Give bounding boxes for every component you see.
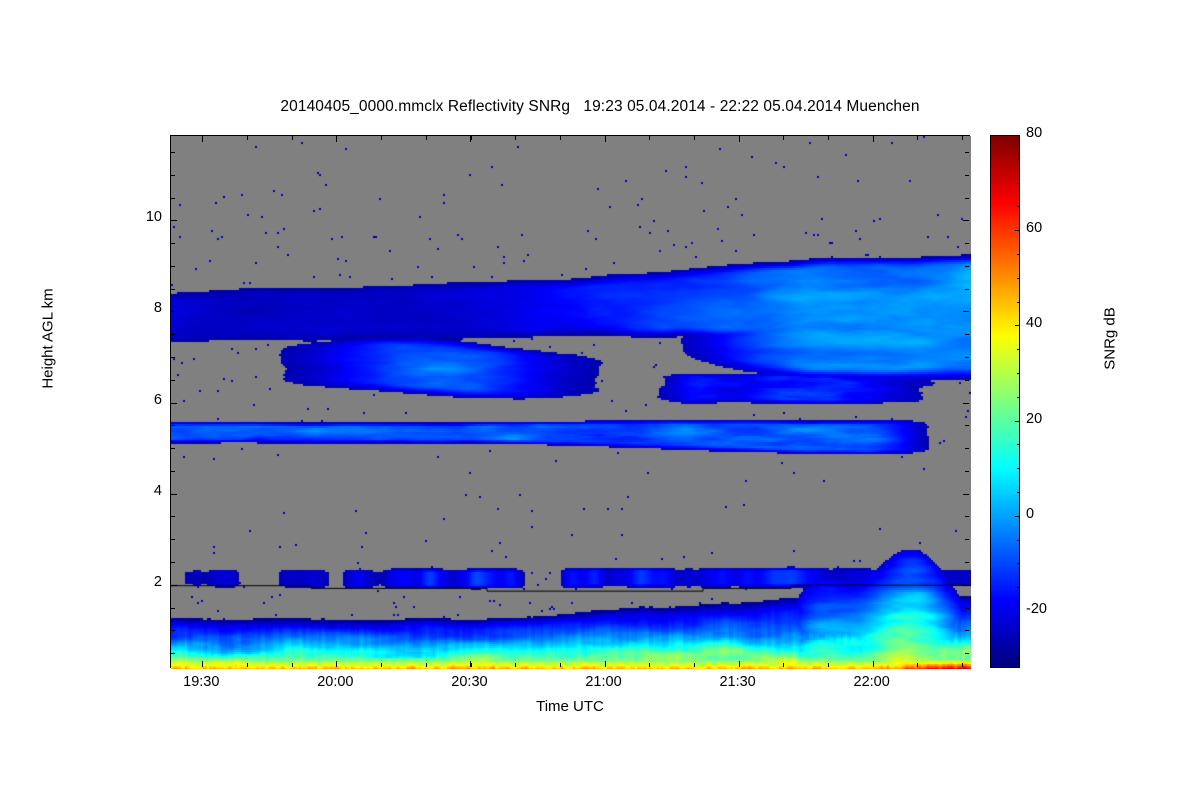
x-major-tick [470,661,471,667]
y-minor-tick [171,653,175,654]
y-major-tick [171,585,177,586]
colorbar-tick-label: 0 [1026,506,1034,522]
x-major-tick [202,661,203,667]
y-minor-tick [171,334,175,335]
colorbar-minor-tick [1017,278,1020,279]
x-major-tick-top [873,136,874,142]
x-minor-tick [694,663,695,667]
colorbar-gradient [990,135,1020,668]
y-minor-tick-right [965,289,969,290]
x-major-tick [739,661,740,667]
colorbar-tick-label: 60 [1026,220,1042,236]
x-minor-tick-top [381,136,382,140]
y-minor-tick [171,539,175,540]
y-minor-tick [171,448,175,449]
y-major-tick-right [963,494,969,495]
y-minor-tick-right [965,198,969,199]
reflectivity-heatmap [171,136,971,669]
y-minor-tick [171,471,175,472]
y-minor-tick [171,289,175,290]
colorbar-minor-tick [1017,373,1020,374]
x-minor-tick-top [247,136,248,140]
x-tick-label: 20:00 [290,674,380,690]
y-minor-tick-right [965,471,969,472]
colorbar-minor-tick [1017,206,1020,207]
x-major-tick-top [739,136,740,142]
x-minor-tick-top [962,136,963,140]
x-minor-tick-top [917,136,918,140]
y-minor-tick [171,562,175,563]
y-tick-label: 2 [118,574,162,590]
colorbar-major-tick [1015,421,1020,422]
colorbar-minor-tick [1017,587,1020,588]
y-minor-tick [171,630,175,631]
x-minor-tick-top [426,136,427,140]
colorbar-title: SNRg dB [1102,239,1119,439]
y-major-tick-right [963,311,969,312]
y-minor-tick-right [965,266,969,267]
x-minor-tick-top [694,136,695,140]
colorbar-major-tick [1015,516,1020,517]
colorbar-minor-tick [1017,159,1020,160]
x-major-tick-top [336,136,337,142]
colorbar-minor-tick [1017,302,1020,303]
y-minor-tick [171,175,175,176]
colorbar-minor-tick [1017,397,1020,398]
y-minor-tick [171,516,175,517]
colorbar-tick-label: 20 [1026,411,1042,427]
x-minor-tick [292,663,293,667]
x-minor-tick-top [828,136,829,140]
y-major-tick [171,403,177,404]
y-minor-tick [171,243,175,244]
x-major-tick-top [470,136,471,142]
x-minor-tick-top [560,136,561,140]
y-minor-tick [171,380,175,381]
x-minor-tick-top [515,136,516,140]
y-minor-tick [171,425,175,426]
plot-area [170,135,970,668]
colorbar-minor-tick [1017,444,1020,445]
x-major-tick [336,661,337,667]
x-axis-title: Time UTC [170,698,970,715]
x-tick-label: 21:00 [559,674,649,690]
y-minor-tick-right [965,152,969,153]
colorbar-tick-label: 40 [1026,315,1042,331]
x-minor-tick-top [292,136,293,140]
y-minor-tick-right [965,562,969,563]
x-tick-label: 21:30 [693,674,783,690]
y-minor-tick-right [965,243,969,244]
colorbar-minor-tick [1017,540,1020,541]
colorbar-minor-tick [1017,349,1020,350]
x-minor-tick [783,663,784,667]
y-minor-tick-right [965,448,969,449]
y-major-tick [171,494,177,495]
y-major-tick [171,311,177,312]
y-major-tick-right [963,220,969,221]
colorbar-minor-tick [1017,468,1020,469]
colorbar-minor-tick [1017,563,1020,564]
x-minor-tick [560,663,561,667]
x-minor-tick-top [783,136,784,140]
y-minor-tick [171,198,175,199]
colorbar-minor-tick [1017,183,1020,184]
y-tick-label: 8 [118,300,162,316]
y-minor-tick [171,357,175,358]
x-major-tick [605,661,606,667]
y-tick-label: 10 [118,209,162,225]
colorbar-minor-tick [1017,658,1020,659]
x-major-tick-top [202,136,203,142]
y-major-tick-right [963,585,969,586]
x-tick-label: 22:00 [827,674,917,690]
colorbar-tick-label: -20 [1026,601,1047,617]
x-minor-tick [649,663,650,667]
y-minor-tick-right [965,608,969,609]
x-tick-label: 19:30 [156,674,246,690]
x-minor-tick [381,663,382,667]
y-minor-tick-right [965,653,969,654]
y-minor-tick [171,152,175,153]
y-minor-tick-right [965,516,969,517]
y-minor-tick [171,266,175,267]
colorbar-major-tick [1015,611,1020,612]
x-tick-label: 20:30 [424,674,514,690]
y-tick-label: 4 [118,483,162,499]
y-minor-tick-right [965,380,969,381]
x-minor-tick-top [649,136,650,140]
colorbar [990,135,1020,668]
colorbar-minor-tick [1017,635,1020,636]
colorbar-tick-label: 80 [1026,125,1042,141]
page-title: 20140405_0000.mmclx Reflectivity SNRg 19… [0,98,1200,116]
y-minor-tick-right [965,630,969,631]
y-major-tick [171,220,177,221]
colorbar-minor-tick [1017,492,1020,493]
y-minor-tick-right [965,175,969,176]
y-tick-label: 6 [118,392,162,408]
x-minor-tick [247,663,248,667]
x-minor-tick [828,663,829,667]
colorbar-minor-tick [1017,254,1020,255]
colorbar-major-tick [1015,230,1020,231]
y-minor-tick [171,608,175,609]
y-minor-tick-right [965,539,969,540]
y-major-tick-right [963,403,969,404]
colorbar-major-tick [1015,135,1020,136]
x-minor-tick [962,663,963,667]
x-minor-tick [917,663,918,667]
x-minor-tick [426,663,427,667]
colorbar-major-tick [1015,325,1020,326]
x-minor-tick [515,663,516,667]
radar-figure: 20140405_0000.mmclx Reflectivity SNRg 19… [0,0,1200,800]
y-minor-tick-right [965,334,969,335]
x-major-tick-top [605,136,606,142]
y-axis-title: Height AGL km [40,239,57,439]
x-major-tick [873,661,874,667]
y-minor-tick-right [965,425,969,426]
y-minor-tick-right [965,357,969,358]
